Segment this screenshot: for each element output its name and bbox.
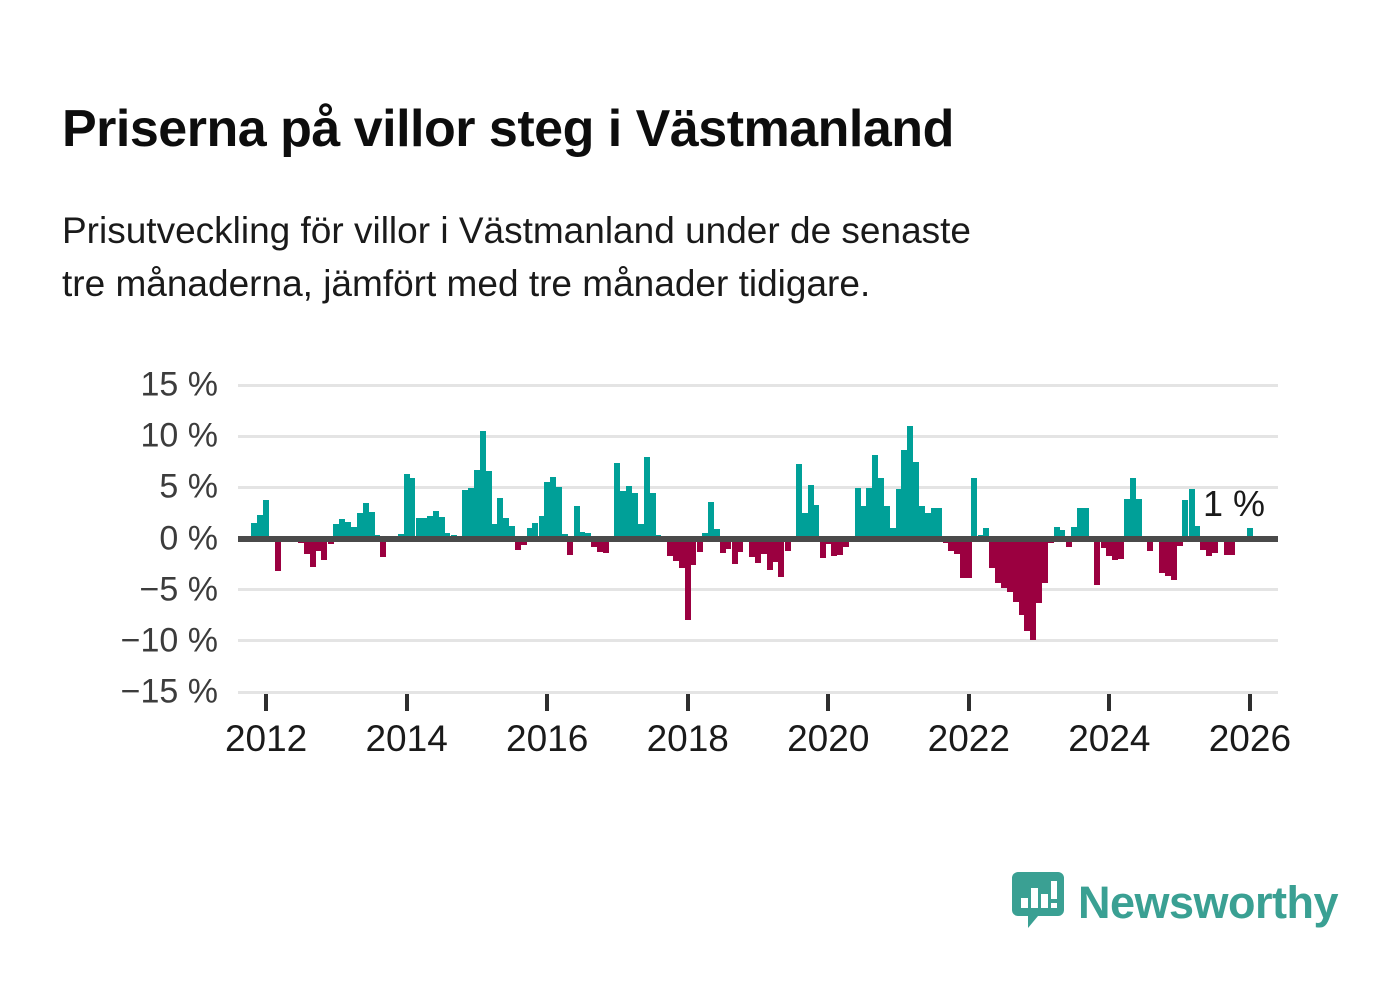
- bar: [989, 539, 995, 569]
- y-tick-label: 5 %: [78, 468, 218, 507]
- y-tick-label: −15 %: [78, 673, 218, 712]
- bar: [556, 487, 562, 538]
- page-title: Priserna på villor steg i Västmanland: [62, 99, 954, 159]
- bar: [971, 478, 977, 538]
- bar: [1118, 539, 1124, 559]
- bar: [1165, 539, 1171, 577]
- y-tick-label: −5 %: [78, 570, 218, 609]
- bar: [550, 477, 556, 538]
- bar: [497, 498, 503, 539]
- bar: [1182, 500, 1188, 539]
- y-tick-label: 10 %: [78, 417, 218, 456]
- bar: [480, 431, 486, 538]
- bar: [1136, 499, 1142, 539]
- bar: [966, 539, 972, 579]
- newsworthy-bar-bubble-icon: [1012, 872, 1064, 933]
- newsworthy-logo: Newsworthy: [1012, 872, 1338, 933]
- x-tick-label: 2020: [787, 718, 869, 760]
- chart-subtitle: Prisutveckling för villor i Västmanland …: [62, 205, 1322, 310]
- bar: [1094, 539, 1100, 585]
- x-tick: [967, 694, 971, 711]
- x-axis: 20122014201620182020202220242026: [238, 692, 1278, 772]
- x-tick: [1107, 694, 1111, 711]
- bar: [1083, 508, 1089, 539]
- bar: [690, 539, 696, 566]
- chart-page: Priserna på villor steg i Västmanland Pr…: [0, 0, 1382, 999]
- x-tick: [826, 694, 830, 711]
- x-tick-label: 2024: [1068, 718, 1150, 760]
- bar: [1024, 539, 1030, 631]
- y-tick-label: 0 %: [78, 519, 218, 558]
- x-tick: [545, 694, 549, 711]
- bar: [919, 506, 925, 539]
- bar: [275, 539, 281, 572]
- x-tick-label: 2018: [647, 718, 729, 760]
- x-axis-line: [238, 692, 1278, 694]
- bar: [813, 505, 819, 539]
- bar: [708, 502, 714, 539]
- bar: [901, 450, 907, 538]
- bar: [1042, 539, 1048, 583]
- bar: [866, 488, 872, 538]
- last-value-annotation: 1 %: [1203, 483, 1265, 525]
- bar: [1007, 539, 1013, 592]
- plot-area: [238, 385, 1278, 692]
- bar: [1077, 508, 1083, 539]
- x-tick-label: 2014: [365, 718, 447, 760]
- bar: [884, 506, 890, 539]
- bar: [650, 493, 656, 538]
- y-tick-label: 15 %: [78, 366, 218, 405]
- bar: [620, 491, 626, 538]
- x-tick: [264, 694, 268, 711]
- bar: [1112, 539, 1118, 560]
- bar: [673, 539, 679, 562]
- chart-subtitle-line-1: Prisutveckling för villor i Västmanland …: [62, 205, 1322, 258]
- x-tick-label: 2012: [225, 718, 307, 760]
- x-tick-label: 2016: [506, 718, 588, 760]
- chart-subtitle-line-2: tre månaderna, jämfört med tre månader t…: [62, 258, 1322, 311]
- bar: [778, 539, 784, 578]
- x-tick-label: 2026: [1209, 718, 1291, 760]
- x-tick: [1248, 694, 1252, 711]
- bar: [1130, 478, 1136, 538]
- bar: [321, 539, 327, 560]
- bar: [263, 500, 269, 539]
- x-tick: [405, 694, 409, 711]
- zero-line: [238, 536, 1278, 542]
- bar: [796, 464, 802, 539]
- x-tick-label: 2022: [928, 718, 1010, 760]
- bar: [409, 478, 415, 538]
- bar: [462, 490, 468, 538]
- bar: [936, 508, 942, 539]
- y-tick-label: −10 %: [78, 621, 218, 660]
- newsworthy-wordmark: Newsworthy: [1078, 880, 1338, 925]
- y-axis-labels: 15 %10 %5 %0 %−5 %−10 %−15 %: [78, 385, 218, 692]
- x-tick: [686, 694, 690, 711]
